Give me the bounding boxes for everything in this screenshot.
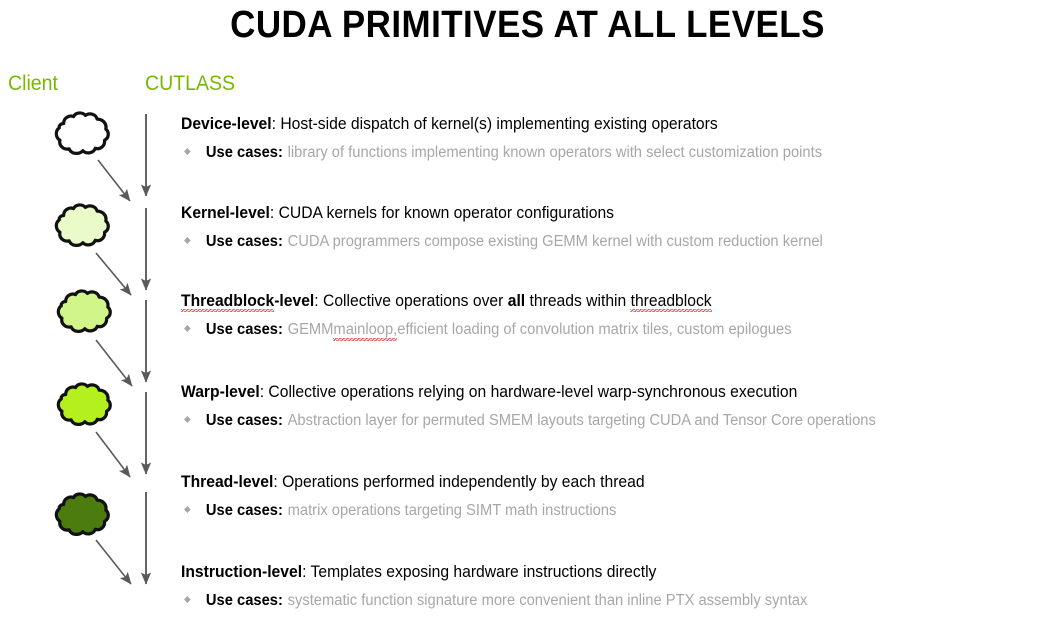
level-block-device: Device-level: Host-side dispatch of kern… <box>181 114 1053 162</box>
usecase-text-prefix-threadblock: GEMM <box>288 321 334 339</box>
level-block-threadblock: Threadblock-level: Collective operations… <box>181 291 1053 341</box>
level-description-mid-threadblock: threads within <box>525 292 630 310</box>
usecase-label-warp: Use cases: <box>206 412 283 430</box>
usecase-text-instruction: systematic function signature more conve… <box>288 592 808 610</box>
page-title: CUDA PRIMITIVES AT ALL LEVELS <box>42 2 1013 48</box>
client-cutlass-diagram <box>0 0 180 637</box>
level-name-thread: Thread-level <box>181 473 273 491</box>
usecase-text-misspelled-threadblock: mainloop, <box>333 321 397 341</box>
usecase-text-suffix-threadblock: efficient loading of convolution matrix … <box>397 321 791 339</box>
level-name-threadblock: Threadblock <box>181 292 274 312</box>
level-title-threadblock: Threadblock-level: Collective operations… <box>181 291 1009 312</box>
client-cloud-thread <box>56 494 108 534</box>
bullet-diamond-icon <box>184 416 191 423</box>
bullet-diamond-icon <box>184 325 191 332</box>
bullet-diamond-icon <box>184 237 191 244</box>
usecase-row-warp: Use cases: Abstraction layer for permute… <box>185 412 1010 430</box>
level-name-warp: Warp-level <box>181 383 260 401</box>
diagonal-arrow-2 <box>96 253 131 295</box>
client-cloud-threadblock <box>58 291 110 331</box>
usecase-row-instruction: Use cases: systematic function signature… <box>185 592 1010 610</box>
usecase-label-kernel: Use cases: <box>206 233 283 251</box>
level-title-thread: Thread-level: Operations performed indep… <box>181 472 1009 493</box>
usecase-text-warp: Abstraction layer for permuted SMEM layo… <box>288 412 876 430</box>
usecase-label-thread: Use cases: <box>206 502 283 520</box>
usecase-text-kernel: CUDA programmers compose existing GEMM k… <box>288 233 823 251</box>
bullet-diamond-icon <box>184 596 191 603</box>
usecase-row-device: Use cases: library of functions implemen… <box>185 144 1010 162</box>
level-title-device: Device-level: Host-side dispatch of kern… <box>181 114 1009 135</box>
level-block-warp: Warp-level: Collective operations relyin… <box>181 382 1053 430</box>
level-name-device: Device-level <box>181 115 272 133</box>
diagonal-arrow-4 <box>96 432 130 477</box>
level-block-thread: Thread-level: Operations performed indep… <box>181 472 1053 520</box>
usecase-text-device: library of functions implementing known … <box>288 144 822 162</box>
usecase-text-thread: matrix operations targeting SIMT math in… <box>288 502 617 520</box>
level-name-kernel: Kernel-level <box>181 204 270 222</box>
level-description-instruction: : Templates exposing hardware instructio… <box>302 563 656 581</box>
cloud-group <box>56 113 110 534</box>
level-block-instruction: Instruction-level: Templates exposing ha… <box>181 562 1053 610</box>
diagonal-arrow-1 <box>98 160 130 201</box>
level-title-kernel: Kernel-level: CUDA kernels for known ope… <box>181 203 1009 224</box>
level-description-thread: : Operations performed independently by … <box>273 473 644 491</box>
diagonal-arrow-5 <box>96 540 131 584</box>
level-title-instruction: Instruction-level: Templates exposing ha… <box>181 562 1009 583</box>
level-description-kernel: : CUDA kernels for known operator config… <box>270 204 614 222</box>
level-name-suffix-threadblock: -level <box>274 292 314 310</box>
client-cloud-kernel <box>56 205 108 245</box>
level-description-emphasis-threadblock: all <box>508 292 525 310</box>
level-description-threadblock: : Collective operations over <box>314 292 507 310</box>
diagonal-arrow-3 <box>96 340 132 386</box>
bullet-diamond-icon <box>184 506 191 513</box>
usecase-row-thread: Use cases: matrix operations targeting S… <box>185 502 1010 520</box>
level-description-device: : Host-side dispatch of kernel(s) implem… <box>272 115 718 133</box>
level-name-instruction: Instruction-level <box>181 563 302 581</box>
level-block-kernel: Kernel-level: CUDA kernels for known ope… <box>181 203 1053 251</box>
usecase-row-threadblock: Use cases: GEMM mainloop, efficient load… <box>185 321 1010 341</box>
client-cloud-device <box>56 113 108 153</box>
level-description-warp: : Collective operations relying on hardw… <box>260 383 798 401</box>
bullet-diamond-icon <box>184 148 191 155</box>
usecase-label-instruction: Use cases: <box>206 592 283 610</box>
usecase-label-threadblock: Use cases: <box>206 321 283 339</box>
level-description-misspelled-threadblock: threadblock <box>631 292 712 312</box>
level-title-warp: Warp-level: Collective operations relyin… <box>181 382 1009 403</box>
usecase-label-device: Use cases: <box>206 144 283 162</box>
usecase-row-kernel: Use cases: CUDA programmers compose exis… <box>185 233 1010 251</box>
client-cloud-warp <box>58 384 110 424</box>
